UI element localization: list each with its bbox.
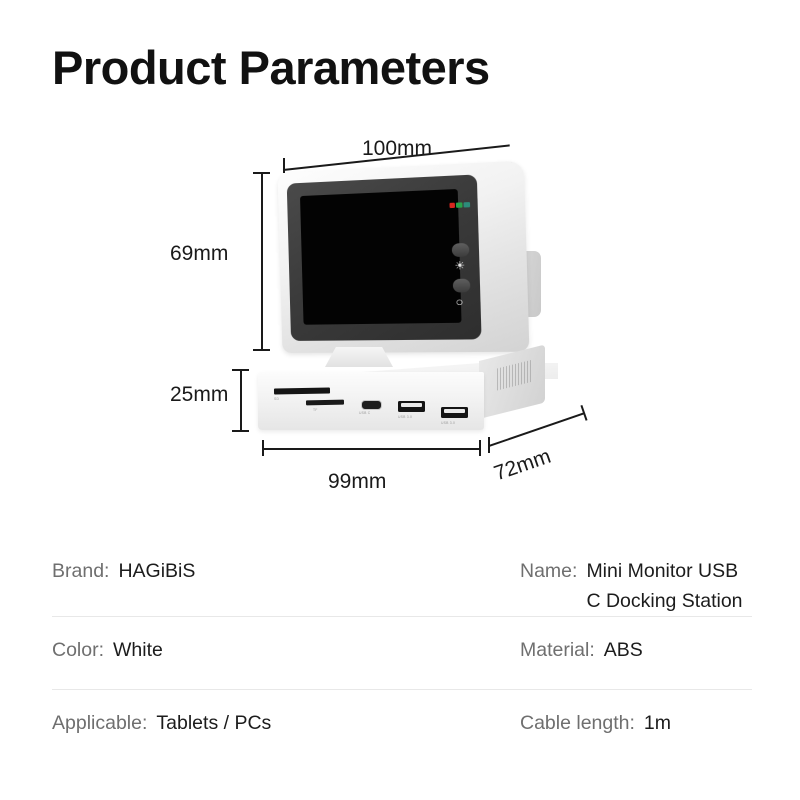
spec-label-material: Material: (520, 635, 595, 665)
dimension-line-base-height (240, 369, 242, 431)
table-row: Brand: HAGiBiS Name: Mini Monitor USB C … (52, 538, 752, 617)
spec-value-color: White (113, 635, 163, 665)
brightness-icon: ☀ (454, 261, 465, 273)
dimension-line-monitor-height (261, 172, 263, 350)
dimension-tick-top-left (283, 158, 285, 173)
led-red-icon (449, 203, 455, 208)
dimension-label-base-height: 25mm (170, 383, 228, 407)
usb-a-port-1[interactable] (398, 401, 425, 412)
mini-monitor: ☀ ○ (280, 173, 515, 353)
usb-a-port-1-caption: USB 3.0 (398, 415, 412, 419)
spec-value-name: Mini Monitor USB C Docking Station (586, 556, 752, 616)
spec-label-cable-length: Cable length: (520, 708, 635, 738)
spec-brand: Brand: HAGiBiS (52, 538, 520, 586)
usb-a-port-2-caption: USB 3.0 (441, 421, 455, 425)
monitor-bezel (287, 174, 482, 341)
spec-label-color: Color: (52, 635, 104, 665)
status-led-indicators (449, 202, 473, 208)
table-row: Color: White Material: ABS (52, 617, 752, 690)
monitor-screen (300, 189, 462, 325)
usb-a-port-2[interactable] (441, 407, 468, 418)
page-title: Product Parameters (52, 40, 490, 95)
dimension-label-base-depth: 72mm (491, 445, 554, 487)
dock-front-panel: SD TF USB C USB 3.0 USB 3.0 (258, 372, 484, 430)
product-parameters-page: { "page": { "title": "Product Parameters… (0, 0, 800, 800)
spec-applicable: Applicable: Tablets / PCs (52, 690, 520, 738)
monitor-body: ☀ ○ (278, 160, 530, 353)
dimension-label-base-width: 99mm (328, 470, 386, 494)
spec-material: Material: ABS (520, 617, 752, 665)
microsd-slot-caption: TF (313, 408, 318, 412)
microsd-card-slot[interactable] (306, 400, 344, 406)
sd-slot-caption: SD (274, 397, 279, 401)
usb-c-port[interactable] (361, 400, 382, 410)
spec-value-brand: HAGiBiS (118, 556, 195, 586)
led-green-icon (456, 202, 463, 207)
dimension-label-width-top: 100mm (362, 137, 432, 161)
dimension-label-monitor-height: 69mm (170, 242, 228, 266)
spec-value-cable-length: 1m (644, 708, 671, 738)
spec-value-material: ABS (604, 635, 643, 665)
sd-card-slot[interactable] (274, 388, 330, 395)
dimension-tick-bottom-left (262, 440, 264, 456)
dimension-tick-25-bottom (232, 430, 249, 432)
table-row: Applicable: Tablets / PCs Cable length: … (52, 690, 752, 762)
dimension-tick-69-bottom (253, 349, 270, 351)
spec-color: Color: White (52, 617, 520, 665)
specifications-table: Brand: HAGiBiS Name: Mini Monitor USB C … (52, 538, 752, 762)
dimension-line-base-width (262, 448, 480, 450)
brightness-button[interactable] (452, 243, 470, 257)
dock-side-panel (479, 345, 545, 419)
spec-label-brand: Brand: (52, 556, 109, 586)
spec-name: Name: Mini Monitor USB C Docking Station (520, 538, 752, 616)
dimension-tick-25-top (232, 369, 249, 371)
spec-label-name: Name: (520, 556, 577, 586)
product-illustration: 100mm 69mm 25mm 99mm 72mm ☀ ○ (150, 125, 650, 515)
power-button[interactable] (453, 279, 471, 293)
spec-value-applicable: Tablets / PCs (156, 708, 271, 738)
dimension-tick-69-top (253, 172, 270, 174)
spec-cable-length: Cable length: 1m (520, 690, 752, 738)
spec-label-applicable: Applicable: (52, 708, 147, 738)
power-icon: ○ (455, 297, 463, 309)
docking-station: SD TF USB C USB 3.0 USB 3.0 (258, 363, 558, 435)
usb-c-port-caption: USB C (359, 411, 370, 415)
dimension-tick-depth-left (488, 437, 490, 453)
led-teal-icon (463, 202, 470, 208)
dock-vent-grille (497, 360, 531, 390)
dimension-tick-bottom-right (479, 440, 481, 456)
